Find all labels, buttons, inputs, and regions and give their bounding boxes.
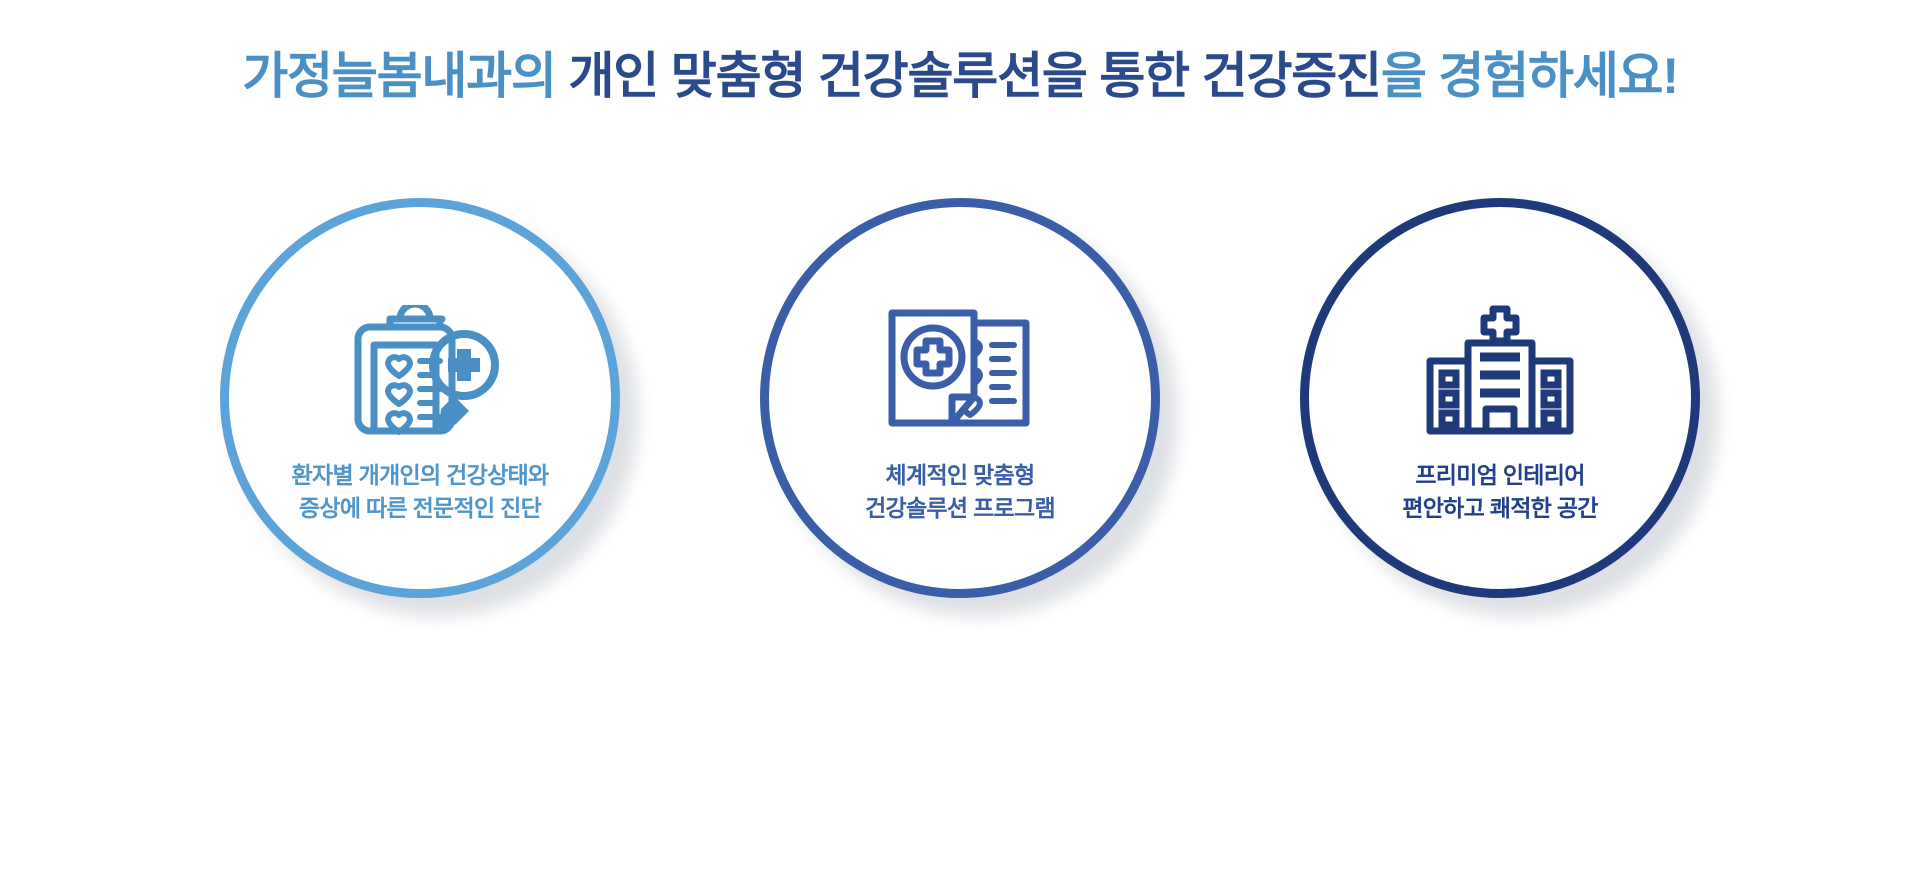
medical-documents-icon bbox=[882, 305, 1038, 437]
page-title: 가정늘봄내과의 개인 맞춤형 건강솔루션을 통한 건강증진을 경험하세요! bbox=[0, 48, 1920, 106]
feature-label-line2: 건강솔루션 프로그램 bbox=[865, 492, 1055, 525]
feature-label-line2: 증상에 따른 전문적인 진단 bbox=[292, 492, 549, 525]
feature-card-program[interactable]: 체계적인 맞춤형 건강솔루션 프로그램 bbox=[760, 198, 1160, 598]
hospital-building-icon bbox=[1416, 305, 1584, 437]
feature-circle-row: 환자별 개개인의 건강상태와 증상에 따른 전문적인 진단 bbox=[0, 198, 1920, 598]
feature-label: 프리미엄 인테리어 편안하고 쾌적한 공간 bbox=[1402, 459, 1598, 526]
feature-circle: 체계적인 맞춤형 건강솔루션 프로그램 bbox=[760, 198, 1160, 598]
feature-label-line1: 프리미엄 인테리어 bbox=[1402, 459, 1598, 492]
feature-circle: 프리미엄 인테리어 편안하고 쾌적한 공간 bbox=[1300, 198, 1700, 598]
promo-banner: 가정늘봄내과의 개인 맞춤형 건강솔루션을 통한 건강증진을 경험하세요! bbox=[0, 0, 1920, 883]
headline-segment-dark: 개인 맞춤형 건강솔루션을 통한 건강증진 bbox=[556, 48, 1381, 104]
feature-label: 환자별 개개인의 건강상태와 증상에 따른 전문적인 진단 bbox=[292, 459, 549, 526]
feature-label-line1: 체계적인 맞춤형 bbox=[865, 459, 1055, 492]
feature-card-diagnosis[interactable]: 환자별 개개인의 건강상태와 증상에 따른 전문적인 진단 bbox=[220, 198, 620, 598]
feature-circle: 환자별 개개인의 건강상태와 증상에 따른 전문적인 진단 bbox=[220, 198, 620, 598]
feature-label-line1: 환자별 개개인의 건강상태와 bbox=[292, 459, 549, 492]
headline-segment-light-2: 을 경험하세요! bbox=[1381, 48, 1678, 104]
feature-label-line2: 편안하고 쾌적한 공간 bbox=[1402, 492, 1598, 525]
feature-card-interior[interactable]: 프리미엄 인테리어 편안하고 쾌적한 공간 bbox=[1300, 198, 1700, 598]
feature-label: 체계적인 맞춤형 건강솔루션 프로그램 bbox=[865, 459, 1055, 526]
headline-text: 가정늘봄내과의 개인 맞춤형 건강솔루션을 통한 건강증진을 경험하세요! bbox=[242, 48, 1678, 106]
headline-segment-light-1: 가정늘봄내과의 bbox=[242, 48, 556, 104]
clipboard-magnifier-icon bbox=[336, 305, 504, 437]
